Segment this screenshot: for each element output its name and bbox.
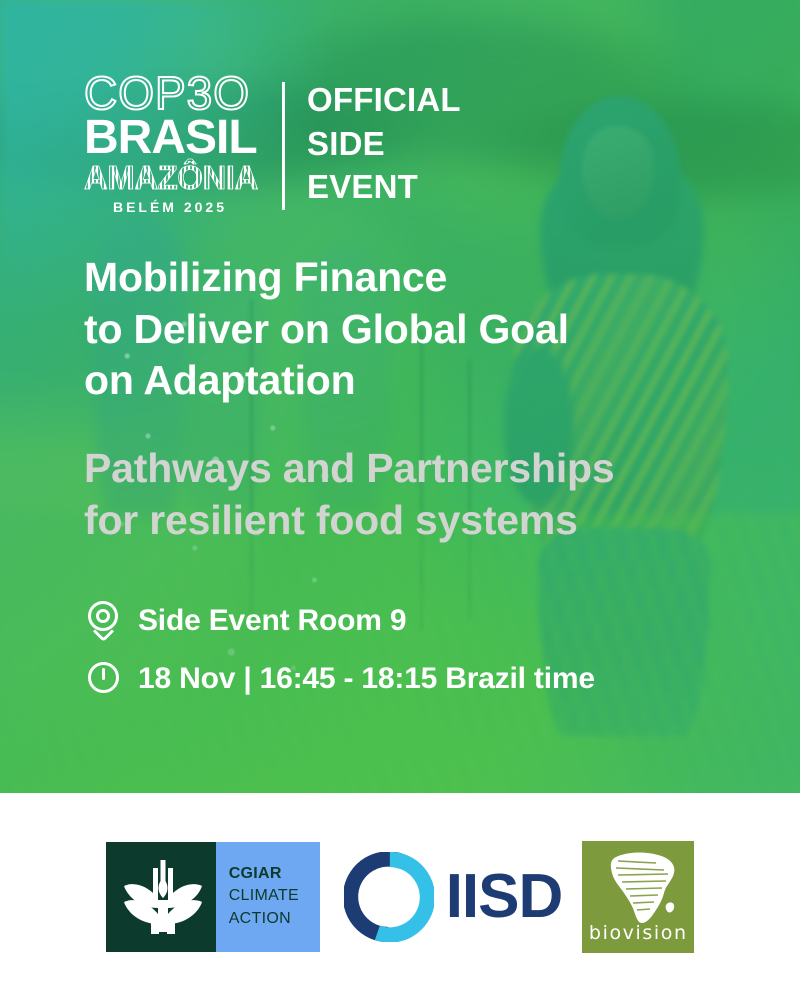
action-label: ACTION bbox=[229, 908, 320, 930]
event-location-row: Side Event Room 9 bbox=[84, 596, 595, 646]
event-title-line-2: to Deliver on Global Goal bbox=[84, 304, 734, 356]
event-subtitle-line-2: for resilient food systems bbox=[84, 495, 744, 547]
cgiar-wheat-icon bbox=[106, 842, 216, 952]
side-line: SIDE bbox=[307, 122, 461, 166]
iisd-broken-circle-icon bbox=[344, 852, 434, 942]
cgiar-climate-action-logo: CGIAR CLIMATE ACTION bbox=[106, 842, 320, 952]
event-subtitle: Pathways and Partnerships for resilient … bbox=[84, 443, 744, 546]
iisd-logo: IISD bbox=[344, 852, 563, 942]
header-divider bbox=[282, 82, 285, 210]
event-title-line-1: Mobilizing Finance bbox=[84, 252, 734, 304]
official-side-event-label: OFFICIAL SIDE EVENT bbox=[307, 78, 461, 209]
event-title: Mobilizing Finance to Deliver on Global … bbox=[84, 252, 734, 407]
event-details: Side Event Room 9 18 Nov | 16:45 - 18:15… bbox=[84, 596, 595, 704]
cop30-logo: COP3O BRASIL AMAZÔNIA BELÉM 2025 bbox=[84, 72, 262, 215]
event-title-line-3: on Adaptation bbox=[84, 355, 734, 407]
event-poster: COP3O BRASIL AMAZÔNIA BELÉM 2025 OFFICIA… bbox=[0, 0, 800, 1000]
event-datetime-row: 18 Nov | 16:45 - 18:15 Brazil time bbox=[84, 654, 595, 704]
cgiar-climate-action-wordmark: CGIAR CLIMATE ACTION bbox=[216, 842, 320, 952]
logo-row: CGIAR CLIMATE ACTION IISD bbox=[106, 841, 695, 953]
cop30-logo-top-row: COP3O bbox=[84, 72, 262, 114]
clock-icon bbox=[84, 658, 124, 700]
location-pin-icon bbox=[84, 600, 124, 642]
amazonia-wordmark: AMAZÔNIA bbox=[84, 161, 262, 194]
climate-label: CLIMATE bbox=[229, 885, 320, 907]
event-line: EVENT bbox=[307, 165, 461, 209]
belem-2025-label: BELÉM 2025 bbox=[84, 199, 256, 215]
official-line: OFFICIAL bbox=[307, 78, 461, 122]
hero-photo-area: COP3O BRASIL AMAZÔNIA BELÉM 2025 OFFICIA… bbox=[0, 0, 800, 793]
cgiar-label: CGIAR bbox=[229, 863, 320, 885]
cop30-wordmark: COP3O bbox=[84, 72, 250, 114]
iisd-wordmark: IISD bbox=[446, 861, 563, 932]
brasil-wordmark: BRASIL bbox=[84, 116, 262, 160]
partner-logo-bar: CGIAR CLIMATE ACTION IISD bbox=[0, 793, 800, 1000]
event-subtitle-line-1: Pathways and Partnerships bbox=[84, 443, 744, 495]
biovision-logo: biovision bbox=[582, 841, 694, 953]
biovision-wordmark: biovision bbox=[582, 922, 694, 944]
event-location-text: Side Event Room 9 bbox=[138, 604, 406, 638]
event-datetime-text: 18 Nov | 16:45 - 18:15 Brazil time bbox=[138, 662, 595, 696]
cop30-header-lockup: COP3O BRASIL AMAZÔNIA BELÉM 2025 OFFICIA… bbox=[84, 72, 461, 215]
